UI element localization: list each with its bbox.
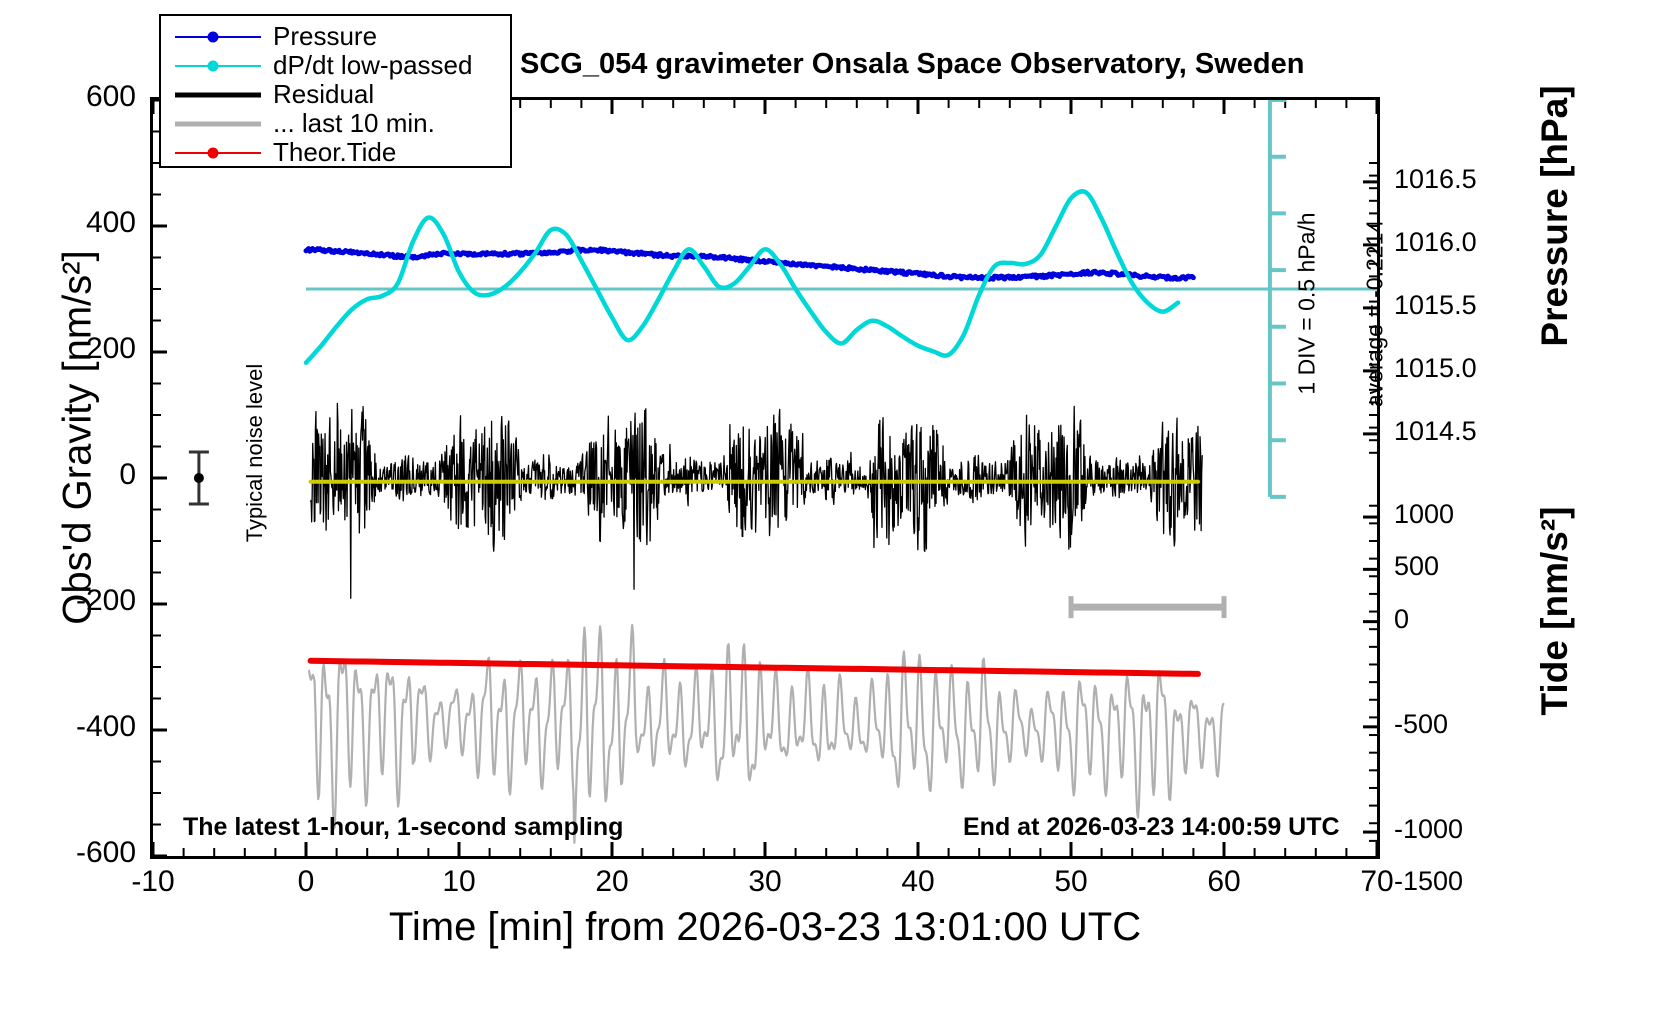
y-axis-pressure-tick-3: 1015.0 xyxy=(1394,353,1477,384)
annotation-sampling: The latest 1-hour, 1-second sampling xyxy=(183,813,623,842)
legend-marker-icon xyxy=(208,147,219,158)
chart-page: 6004002000-200-400-600 -1001020304050607… xyxy=(0,0,1660,1020)
y-axis-pressure-title: Pressure [hPa] xyxy=(1534,16,1576,416)
y-axis-tide-tick-5: -1500 xyxy=(1394,866,1463,897)
legend-line-icon xyxy=(175,121,261,126)
x-axis-tick-6: 50 xyxy=(1011,865,1131,899)
legend-swatch-icon xyxy=(175,56,261,76)
legend-swatch-icon xyxy=(175,143,261,163)
legend-item-0[interactable]: Pressure xyxy=(161,22,510,51)
noise-marker xyxy=(194,473,204,483)
y-axis-tide-tick-0: 1000 xyxy=(1394,499,1454,530)
y-axis-tide-title: Tide [nm/s²] xyxy=(1534,411,1576,811)
annotation-div-average: average = -0.2214 xyxy=(1362,164,1389,464)
legend-swatch-icon xyxy=(175,114,261,134)
y-axis-pressure-tick-1: 1016.0 xyxy=(1394,227,1477,258)
y-axis-tide-tick-4: -1000 xyxy=(1394,814,1463,845)
y-axis-left-title: Obs'd Gravity [nm/s²] xyxy=(56,128,101,748)
x-axis-tick-0: -10 xyxy=(93,865,213,899)
legend-item-3[interactable]: ... last 10 min. xyxy=(161,109,510,138)
legend-marker-icon xyxy=(208,31,219,42)
y-axis-pressure-tick-0: 1016.5 xyxy=(1394,164,1477,195)
chart-legend: PressuredP/dt low-passedResidual... last… xyxy=(159,14,512,168)
legend-swatch-icon xyxy=(175,85,261,105)
legend-marker-icon xyxy=(208,60,219,71)
legend-swatch-icon xyxy=(175,27,261,47)
chart-title: SCG_054 gravimeter Onsala Space Observat… xyxy=(520,48,1304,81)
x-axis-tick-2: 10 xyxy=(399,865,519,899)
legend-label: dP/dt low-passed xyxy=(273,50,472,81)
y-axis-pressure-tick-4: 1014.5 xyxy=(1394,416,1477,447)
legend-item-1[interactable]: dP/dt low-passed xyxy=(161,51,510,80)
annotation-div-scale: 1 DIV = 0.5 hPa/h xyxy=(1294,154,1321,454)
plot-canvas xyxy=(153,100,1377,856)
x-axis-tick-4: 30 xyxy=(705,865,825,899)
legend-label: Theor.Tide xyxy=(273,137,396,168)
legend-line-icon xyxy=(175,92,261,97)
annotation-end-time: End at 2026-03-23 14:00:59 UTC xyxy=(963,813,1340,842)
legend-label: Residual xyxy=(273,79,374,110)
legend-label: ... last 10 min. xyxy=(273,108,435,139)
annotation-noise-level: Typical noise level xyxy=(242,343,268,563)
plot-area xyxy=(150,97,1380,859)
y-axis-tide-tick-2: 0 xyxy=(1394,604,1409,635)
x-axis-title: Time [min] from 2026-03-23 13:01:00 UTC xyxy=(150,905,1380,950)
legend-label: Pressure xyxy=(273,21,377,52)
series-last-10-min xyxy=(309,625,1223,843)
x-axis-tick-3: 20 xyxy=(552,865,672,899)
y-axis-left-tick-0: 600 xyxy=(0,80,136,114)
series-residual xyxy=(311,403,1203,598)
y-axis-tide-tick-3: -500 xyxy=(1394,709,1448,740)
legend-item-4[interactable]: Theor.Tide xyxy=(161,138,510,167)
y-axis-tide-tick-1: 500 xyxy=(1394,551,1439,582)
x-axis-tick-7: 60 xyxy=(1164,865,1284,899)
series-theor-tide xyxy=(311,661,1198,674)
legend-item-2[interactable]: Residual xyxy=(161,80,510,109)
x-axis-tick-5: 40 xyxy=(858,865,978,899)
x-axis-tick-1: 0 xyxy=(246,865,366,899)
y-axis-pressure-tick-2: 1015.5 xyxy=(1394,290,1477,321)
